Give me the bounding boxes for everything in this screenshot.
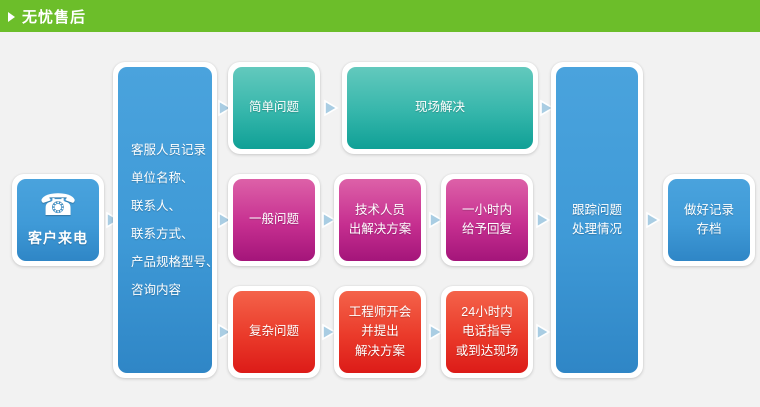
page-title: 无忧售后 — [22, 6, 86, 27]
record-line-6: 咨询内容 — [131, 276, 181, 304]
node-track-progress-line-1: 跟踪问题 — [572, 201, 622, 220]
node-archive-records[interactable]: 做好记录 存档 — [663, 174, 755, 266]
node-simple-problem-body: 简单问题 — [233, 67, 315, 149]
node-onsite-resolution-body: 现场解决 — [347, 67, 533, 149]
node-tech-solution[interactable]: 技术人员 出解决方案 — [334, 174, 426, 266]
node-track-progress[interactable]: 跟踪问题 处理情况 — [551, 62, 643, 378]
node-archive-records-line-1: 做好记录 — [684, 201, 734, 220]
record-line-2: 单位名称、 — [131, 164, 194, 192]
node-complex-problem-label: 复杂问题 — [249, 322, 299, 341]
record-line-3: 联系人、 — [131, 192, 181, 220]
node-record-details-body: 客服人员记录 单位名称、 联系人、 联系方式、 产品规格型号、 咨询内容 — [118, 67, 212, 373]
page-header: 无忧售后 — [0, 0, 760, 32]
node-complex-problem[interactable]: 复杂问题 — [228, 286, 320, 378]
node-24-hour-support-line-2: 电话指导 — [462, 322, 512, 341]
node-customer-call-body: ☎ 客户来电 — [17, 179, 99, 261]
node-24-hour-support-line-1: 24小时内 — [461, 303, 512, 322]
node-customer-call[interactable]: ☎ 客户来电 — [12, 174, 104, 266]
node-tech-solution-line-2: 出解决方案 — [349, 220, 412, 239]
node-track-progress-line-2: 处理情况 — [572, 220, 622, 239]
chevron-right-icon — [8, 12, 15, 22]
record-line-1: 客服人员记录 — [131, 136, 206, 164]
node-24-hour-support[interactable]: 24小时内 电话指导 或到达现场 — [441, 286, 533, 378]
record-line-5: 产品规格型号、 — [131, 248, 212, 276]
node-24-hour-support-body: 24小时内 电话指导 或到达现场 — [446, 291, 528, 373]
node-24-hour-support-line-3: 或到达现场 — [456, 342, 519, 361]
node-onsite-resolution-label: 现场解决 — [415, 98, 465, 117]
node-one-hour-reply-line-1: 一小时内 — [462, 201, 512, 220]
node-customer-call-label: 客户来电 — [28, 228, 88, 250]
node-one-hour-reply-body: 一小时内 给予回复 — [446, 179, 528, 261]
flowchart-canvas: ☎ 客户来电 客服人员记录 单位名称、 联系人、 联系方式、 产品规格型号、 咨… — [0, 32, 760, 407]
node-simple-problem[interactable]: 简单问题 — [228, 62, 320, 154]
node-one-hour-reply-line-2: 给予回复 — [462, 220, 512, 239]
node-engineer-meeting-line-2: 并提出 — [361, 322, 399, 341]
node-record-details[interactable]: 客服人员记录 单位名称、 联系人、 联系方式、 产品规格型号、 咨询内容 — [113, 62, 217, 378]
node-engineer-meeting-line-1: 工程师开会 — [349, 303, 412, 322]
node-general-problem-label: 一般问题 — [249, 210, 299, 229]
record-line-4: 联系方式、 — [131, 220, 194, 248]
arrow-track-to-archive — [644, 210, 662, 230]
node-tech-solution-body: 技术人员 出解决方案 — [339, 179, 421, 261]
arrow-simple-to-onsite — [322, 98, 340, 118]
node-tech-solution-line-1: 技术人员 — [355, 201, 405, 220]
node-engineer-meeting[interactable]: 工程师开会 并提出 解决方案 — [334, 286, 426, 378]
node-track-progress-body: 跟踪问题 处理情况 — [556, 67, 638, 373]
node-general-problem-body: 一般问题 — [233, 179, 315, 261]
node-archive-records-body: 做好记录 存档 — [668, 179, 750, 261]
node-general-problem[interactable]: 一般问题 — [228, 174, 320, 266]
telephone-icon: ☎ — [39, 191, 76, 221]
node-onsite-resolution[interactable]: 现场解决 — [342, 62, 538, 154]
arrow-onehour-to-track — [534, 210, 552, 230]
node-complex-problem-body: 复杂问题 — [233, 291, 315, 373]
node-engineer-meeting-body: 工程师开会 并提出 解决方案 — [339, 291, 421, 373]
node-archive-records-line-2: 存档 — [696, 220, 721, 239]
node-one-hour-reply[interactable]: 一小时内 给予回复 — [441, 174, 533, 266]
arrow-24hour-to-track — [534, 322, 552, 342]
node-simple-problem-label: 简单问题 — [249, 98, 299, 117]
node-engineer-meeting-line-3: 解决方案 — [355, 342, 405, 361]
